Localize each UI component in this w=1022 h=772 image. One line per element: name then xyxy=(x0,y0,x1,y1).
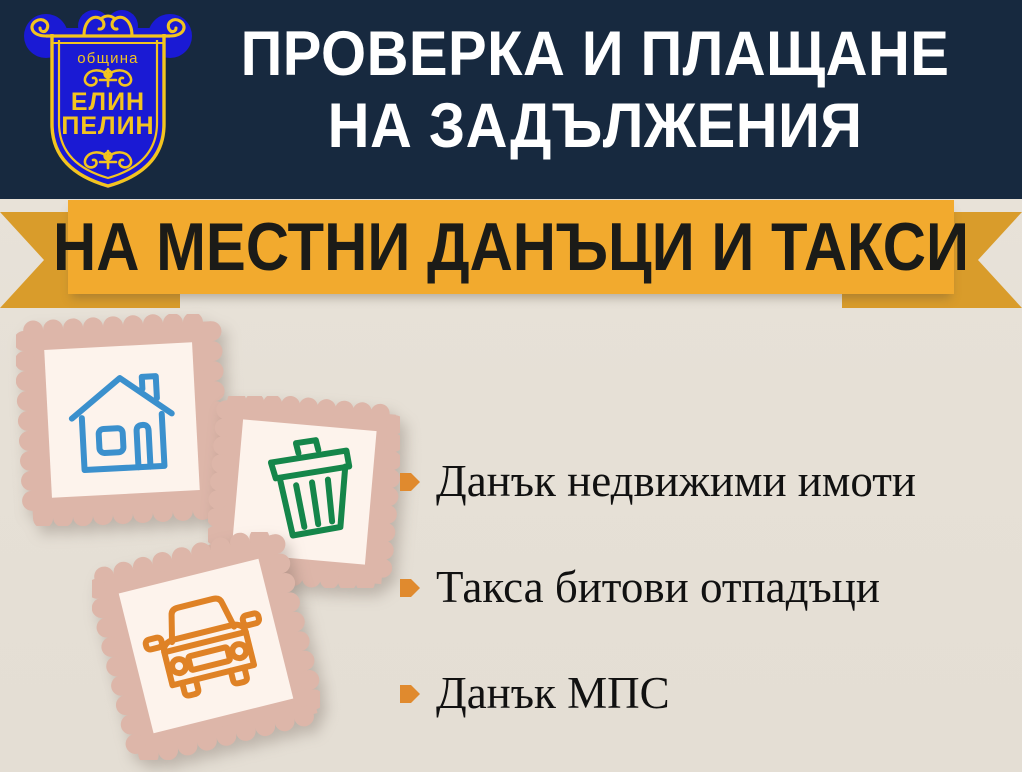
bullet-arrow-icon xyxy=(400,471,420,493)
ribbon-banner: НА МЕСТНИ ДАНЪЦИ И ТАКСИ xyxy=(0,198,1022,310)
poster-canvas: ПРОВЕРКА И ПЛАЩАНЕ НА ЗАДЪЛЖЕНИЯ xyxy=(0,0,1022,772)
svg-text:ПЕЛИН: ПЕЛИН xyxy=(61,112,154,140)
ribbon-band: НА МЕСТНИ ДАНЪЦИ И ТАКСИ xyxy=(68,200,954,294)
municipality-logo: община ЕЛИН ПЕЛИН xyxy=(22,6,194,194)
page-title: ПРОВЕРКА И ПЛАЩАНЕ НА ЗАДЪЛЖЕНИЯ xyxy=(213,18,977,162)
svg-text:община: община xyxy=(77,50,138,67)
list-item-label: Данък МПС xyxy=(436,668,670,718)
list-item-label: Данък недвижими имоти xyxy=(436,456,916,506)
ribbon-label: НА МЕСТНИ ДАНЪЦИ И ТАКСИ xyxy=(121,200,901,294)
tax-type-list: Данък недвижими имоти Такса битови отпад… xyxy=(400,428,1010,746)
stamp-card-property-tax xyxy=(16,314,228,526)
list-item[interactable]: Такса битови отпадъци xyxy=(400,534,1010,640)
stamp-card-vehicle-tax xyxy=(92,532,320,760)
bullet-arrow-icon xyxy=(400,683,420,705)
list-item[interactable]: Данък МПС xyxy=(400,640,1010,746)
coat-of-arms-icon: община ЕЛИН ПЕЛИН xyxy=(22,6,194,194)
bullet-arrow-icon xyxy=(400,577,420,599)
list-item[interactable]: Данък недвижими имоти xyxy=(400,428,1010,534)
list-item-label: Такса битови отпадъци xyxy=(436,562,880,612)
